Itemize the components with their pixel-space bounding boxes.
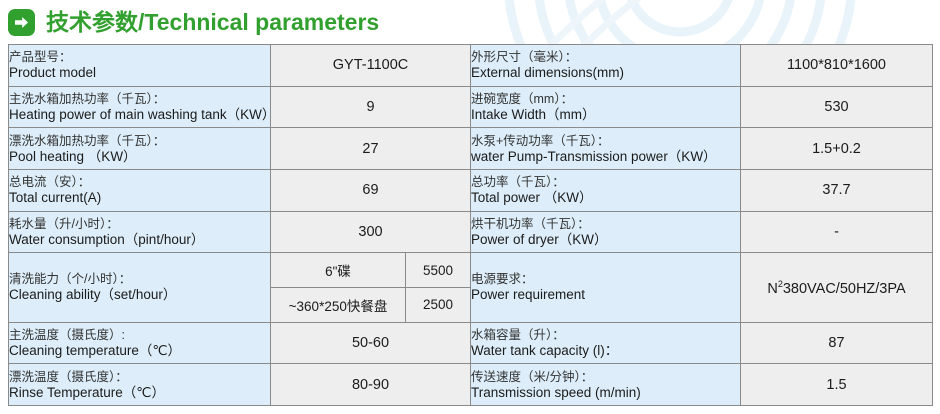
- param-value-power-of-dryer: -: [741, 211, 933, 253]
- param-label-water-tank-capacity: 水箱容量（升）： Water tank capacity (l)：: [471, 322, 741, 364]
- param-label-cleaning-ability: 清洗能力（个/小时）： Cleaning ability（set/hour）: [9, 253, 271, 323]
- param-value-water-tank-capacity: 87: [741, 322, 933, 364]
- arrow-right-icon: [8, 9, 35, 36]
- param-value-cleaning-temperature: 50-60: [271, 322, 471, 364]
- param-label-pump-transmission-power: 水泵+传动功率（千瓦）： water Pump-Transmission pow…: [471, 128, 741, 170]
- power-requirement-suffix: 380VAC/50HZ/3PA: [783, 280, 906, 296]
- page-title: 技术参数/Technical parameters: [46, 11, 379, 34]
- table-row: 产品型号： Product model GYT-1100C 外形尺寸（毫米）： …: [9, 45, 933, 87]
- cleaning-ability-subtable: 6"碟 5500 ~360*250快餐盘 2500: [271, 253, 470, 322]
- cleaning-ability-subrow: 6"碟 5500: [271, 253, 470, 287]
- param-value-cleaning-ability: 6"碟 5500 ~360*250快餐盘 2500: [271, 253, 471, 323]
- param-label-pool-heating: 漂洗水箱加热功率（千瓦）： Pool heating （KW）: [9, 128, 271, 170]
- table-row: 主洗水箱加热功率（千瓦）： Heating power of main wash…: [9, 86, 933, 128]
- cleaning-ability-subrow: ~360*250快餐盘 2500: [271, 287, 470, 321]
- param-label-product-model: 产品型号： Product model: [9, 45, 271, 87]
- param-value-power-requirement: N2380VAC/50HZ/3PA: [741, 253, 933, 323]
- cleaning-ability-item-name: ~360*250快餐盘: [271, 287, 406, 321]
- cleaning-ability-item-qty: 2500: [406, 287, 471, 321]
- param-value-heating-power-main-tank: 9: [271, 86, 471, 128]
- param-value-transmission-speed: 1.5: [741, 364, 933, 406]
- power-requirement-prefix: N: [767, 280, 777, 296]
- table-row: 漂洗温度（摄氏度）： Rinse Temperature（℃） 80-90 传送…: [9, 364, 933, 406]
- page-header: 技术参数/Technical parameters: [0, 0, 379, 44]
- param-label-heating-power-main-tank: 主洗水箱加热功率（千瓦）： Heating power of main wash…: [9, 86, 271, 128]
- param-label-rinse-temperature: 漂洗温度（摄氏度）： Rinse Temperature（℃）: [9, 364, 271, 406]
- param-value-water-consumption: 300: [271, 211, 471, 253]
- table-row: 耗水量（升/小时）： Water consumption（pint/hour） …: [9, 211, 933, 253]
- param-value-rinse-temperature: 80-90: [271, 364, 471, 406]
- param-label-cleaning-temperature: 主洗温度（摄氏度）: Cleaning temperature（℃）: [9, 322, 271, 364]
- param-value-total-current: 69: [271, 169, 471, 211]
- cleaning-ability-item-name: 6"碟: [271, 253, 406, 287]
- table-row: 总电流（安）： Total current(A) 69 总功率（千瓦）： Tot…: [9, 169, 933, 211]
- table-row: 清洗能力（个/小时）： Cleaning ability（set/hour） 6…: [9, 253, 933, 323]
- param-label-total-current: 总电流（安）： Total current(A): [9, 169, 271, 211]
- table-row: 漂洗水箱加热功率（千瓦）： Pool heating （KW） 27 水泵+传动…: [9, 128, 933, 170]
- param-label-water-consumption: 耗水量（升/小时）： Water consumption（pint/hour）: [9, 211, 271, 253]
- page-title-en: Technical parameters: [144, 9, 379, 35]
- param-value-intake-width: 530: [741, 86, 933, 128]
- param-label-intake-width: 进碗宽度（mm）： Intake Width（mm）: [471, 86, 741, 128]
- param-label-transmission-speed: 传送速度（米/分钟）： Transmission speed (m/min): [471, 364, 741, 406]
- param-value-product-model: GYT-1100C: [271, 45, 471, 87]
- table-row: 主洗温度（摄氏度）: Cleaning temperature（℃） 50-60…: [9, 322, 933, 364]
- param-value-pool-heating: 27: [271, 128, 471, 170]
- param-label-external-dimensions: 外形尺寸（毫米）： External dimensions(mm): [471, 45, 741, 87]
- page-title-cn: 技术参数: [46, 9, 138, 35]
- cleaning-ability-item-qty: 5500: [406, 253, 471, 287]
- technical-parameters-table: 产品型号： Product model GYT-1100C 外形尺寸（毫米）： …: [8, 44, 933, 406]
- param-value-external-dimensions: 1100*810*1600: [741, 45, 933, 87]
- param-value-total-power: 37.7: [741, 169, 933, 211]
- param-label-power-of-dryer: 烘干机功率（千瓦）： Power of dryer（KW）: [471, 211, 741, 253]
- param-label-power-requirement: 电源要求： Power requirement: [471, 253, 741, 323]
- param-label-total-power: 总功率（千瓦）： Total power （KW）: [471, 169, 741, 211]
- param-value-pump-transmission-power: 1.5+0.2: [741, 128, 933, 170]
